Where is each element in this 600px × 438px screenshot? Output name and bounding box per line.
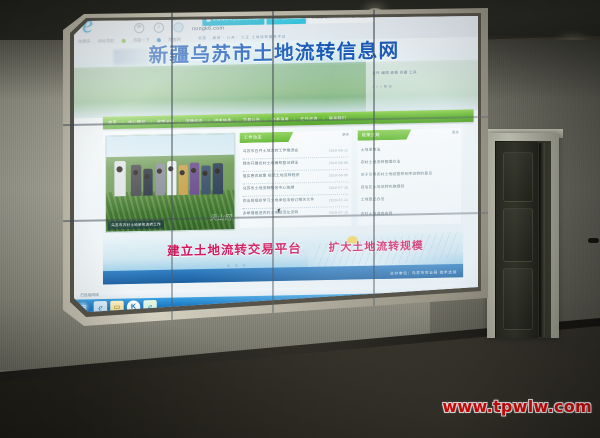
more-link[interactable]: 更多	[342, 132, 349, 137]
list-item-date: 2016-08-12	[329, 148, 348, 153]
slogan-banner: ◇ ◇ ◇ 建立土地流转交易平台 扩大土地流转规模 主办单位：乌苏市农业局 技术…	[103, 232, 463, 285]
nav-item[interactable]: 办事指南	[272, 116, 289, 123]
nav-item[interactable]: 交易公告	[243, 117, 260, 124]
nav-separator: |	[122, 121, 123, 125]
list-item[interactable]: 农业局组织学习土地承包法修订相关文件 2016-07-21	[243, 197, 349, 204]
nav-separator: |	[151, 120, 152, 124]
bookmark-icon	[157, 38, 161, 42]
internet-explorer-icon[interactable]: e	[94, 301, 107, 312]
door-gap	[539, 143, 545, 337]
column-heading: 工作动态	[240, 132, 294, 143]
search-icon[interactable]	[173, 22, 183, 33]
nav-item[interactable]: 流转动态	[186, 118, 203, 125]
photo-person-head	[168, 166, 173, 171]
news-column-work-updates: 工作动态 更多 乌苏市召开土地流转工作推进会 2016-08-12 我市开展农村…	[240, 131, 352, 228]
bookmark-icon	[122, 39, 126, 43]
list-item-title: 土地登记办法	[361, 197, 385, 203]
list-item-title: 乌苏市召开土地流转工作推进会	[243, 148, 299, 154]
list-item-title: 农业局组织学习土地承包法修订相关文件	[243, 197, 315, 204]
photo-person	[201, 165, 210, 194]
site-logo	[113, 49, 148, 65]
photo-person-head	[133, 170, 138, 175]
address-bar[interactable]: nongk6.com	[192, 25, 224, 32]
list-item[interactable]: 农村土地调查条例	[361, 210, 458, 217]
list-item-title: 农村土地流转管理办法	[361, 160, 401, 166]
list-item[interactable]: 农村土地流转管理办法	[361, 158, 458, 165]
list-item-title: 自治区土地流转实施细则	[361, 184, 405, 190]
list-item-date: 2016-08-05	[329, 172, 348, 177]
nav-item[interactable]: 首页	[108, 120, 117, 126]
news-photo[interactable]: 天山网 乌苏市农村土地承包流转工作	[105, 133, 235, 233]
more-link[interactable]: 更多	[452, 129, 459, 134]
list-item[interactable]: 关于引导农村土地经营权有序流转的意见	[361, 171, 458, 178]
list-item[interactable]: 土地登记办法	[361, 196, 458, 203]
photo-person-head	[191, 168, 196, 173]
refresh-icon[interactable]: ⟳	[134, 23, 144, 34]
slogan-left: 建立土地流转交易平台	[167, 241, 302, 258]
photo-person	[143, 169, 152, 196]
list-item-title: 土地承包法	[361, 148, 381, 154]
nav-item[interactable]: 供求信息	[214, 117, 231, 124]
list-item[interactable]: 土地承包法	[361, 146, 458, 153]
list-item[interactable]: 多举措推进农村土地规范化流转 2016-07-15	[243, 209, 349, 216]
door-handle-icon[interactable]	[588, 238, 599, 243]
list-item-title: 落实惠农政策 规范土地流转程序	[243, 173, 300, 179]
photo-watermark: 天山网	[210, 213, 232, 224]
door-panel	[503, 208, 533, 262]
news-column-policy: 政策法规 更多 土地承包法 农村土地流转管理办法 关于引导农村土地经营权有序流转…	[358, 128, 462, 225]
column-heading: 政策法规	[358, 129, 412, 140]
door-panel	[503, 152, 533, 202]
list-item-date: 2016-08-09	[329, 160, 348, 165]
home-icon[interactable]: ⌂	[154, 22, 164, 33]
nav-item[interactable]: 联系我们	[329, 115, 346, 122]
list-item-date: 2016-07-15	[329, 210, 348, 215]
video-wall-screen[interactable]: e 新疆农业信息 - 乌苏市政务 - 首页 ✕ ⟳ ⌂ nongk6.com 新…	[74, 15, 478, 312]
list-item-title: 乌苏市土地流转服务中心挂牌	[243, 185, 295, 191]
list-item-date: 2016-07-21	[329, 197, 348, 202]
nav-separator: |	[237, 118, 238, 122]
nav-item[interactable]: 政策法规	[157, 119, 174, 126]
nav-separator: |	[208, 119, 209, 123]
list-item-title: 农村土地调查条例	[361, 211, 393, 217]
photo-person-head	[144, 174, 149, 179]
site-title: 新疆乌苏市土地流转信息网	[149, 41, 400, 67]
nav-item[interactable]: 在线咨询	[300, 116, 317, 123]
list-item[interactable]: 我市开展农村土地确权登记颁证 2016-08-09	[243, 160, 349, 167]
nav-separator: |	[323, 117, 324, 121]
nav-item[interactable]: 中心概况	[128, 119, 145, 126]
photo-person-head	[157, 168, 162, 173]
room-scene: e 新疆农业信息 - 乌苏市政务 - 首页 ✕ ⟳ ⌂ nongk6.com 新…	[0, 0, 600, 438]
footer-text: 主办单位：乌苏市农业局 技术支持	[390, 270, 457, 277]
banner-icon-row: ◇ ◇ ◇	[227, 263, 247, 268]
list-item-title: 关于引导农村土地经营权有序流转的意见	[361, 171, 433, 178]
photo-person-head	[116, 166, 122, 172]
list-item[interactable]: 乌苏市土地流转服务中心挂牌 2016-07-28	[243, 184, 349, 191]
site-footer-bar: 主办单位：乌苏市农业局 技术支持	[103, 264, 463, 285]
door-panel	[503, 268, 533, 330]
list-item[interactable]: 乌苏市召开土地流转工作推进会 2016-08-12	[243, 147, 349, 154]
desktop-label: 已连接网络	[80, 293, 99, 299]
nav-separator: |	[294, 117, 295, 121]
list-item-title: 我市开展农村土地确权登记颁证	[243, 161, 299, 167]
list-item-title: 多举措推进农村土地规范化流转	[243, 210, 299, 216]
photo-person-head	[202, 171, 207, 176]
slogan-right: 扩大土地流转规模	[329, 239, 424, 255]
photo-caption: 乌苏市农村土地承包流转工作	[108, 220, 164, 229]
list-item-date: 2016-07-28	[329, 185, 348, 190]
nav-separator: |	[179, 119, 180, 123]
list-item[interactable]: 自治区土地流转实施细则	[361, 183, 458, 190]
nav-separator: |	[265, 118, 266, 122]
list-item[interactable]: 落实惠农政策 规范土地流转程序 2016-08-05	[243, 172, 349, 179]
image-watermark: www.tpwlw.com	[442, 397, 592, 416]
browser-nav-buttons: ⟳ ⌂	[134, 22, 184, 33]
